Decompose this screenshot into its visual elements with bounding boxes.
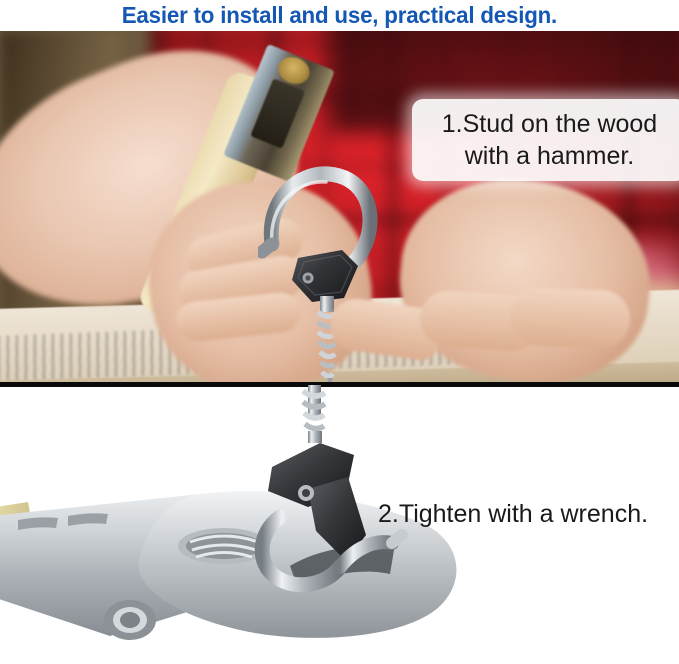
- scene-hammering: [0, 31, 679, 382]
- finger: [509, 287, 631, 349]
- caption-step-2: 2.Tighten with a wrench.: [378, 500, 648, 529]
- hook-pivot-hole: [305, 275, 310, 280]
- caption-step-1-line-1: 1.Stud on the wood: [442, 108, 657, 140]
- screw-shaft-threads: [303, 385, 325, 443]
- product-instruction-graphic: Easier to install and use, practical des…: [0, 0, 679, 664]
- caption-step-1: 1.Stud on the wood with a hammer.: [412, 99, 679, 181]
- caption-step-1-line-2: with a hammer.: [465, 140, 635, 172]
- header-band: Easier to install and use, practical des…: [0, 0, 679, 31]
- screw-hook-in-wrench-illustration: [250, 385, 450, 595]
- hook-pivot-hole: [302, 489, 310, 497]
- panel-top-photo: 1.Stud on the wood with a hammer.: [0, 31, 679, 382]
- screw-collar: [308, 431, 322, 443]
- hook-tip-end: [392, 535, 402, 543]
- page-title: Easier to install and use, practical des…: [122, 2, 557, 29]
- screw-collar: [320, 296, 334, 312]
- hook-tip: [262, 244, 272, 252]
